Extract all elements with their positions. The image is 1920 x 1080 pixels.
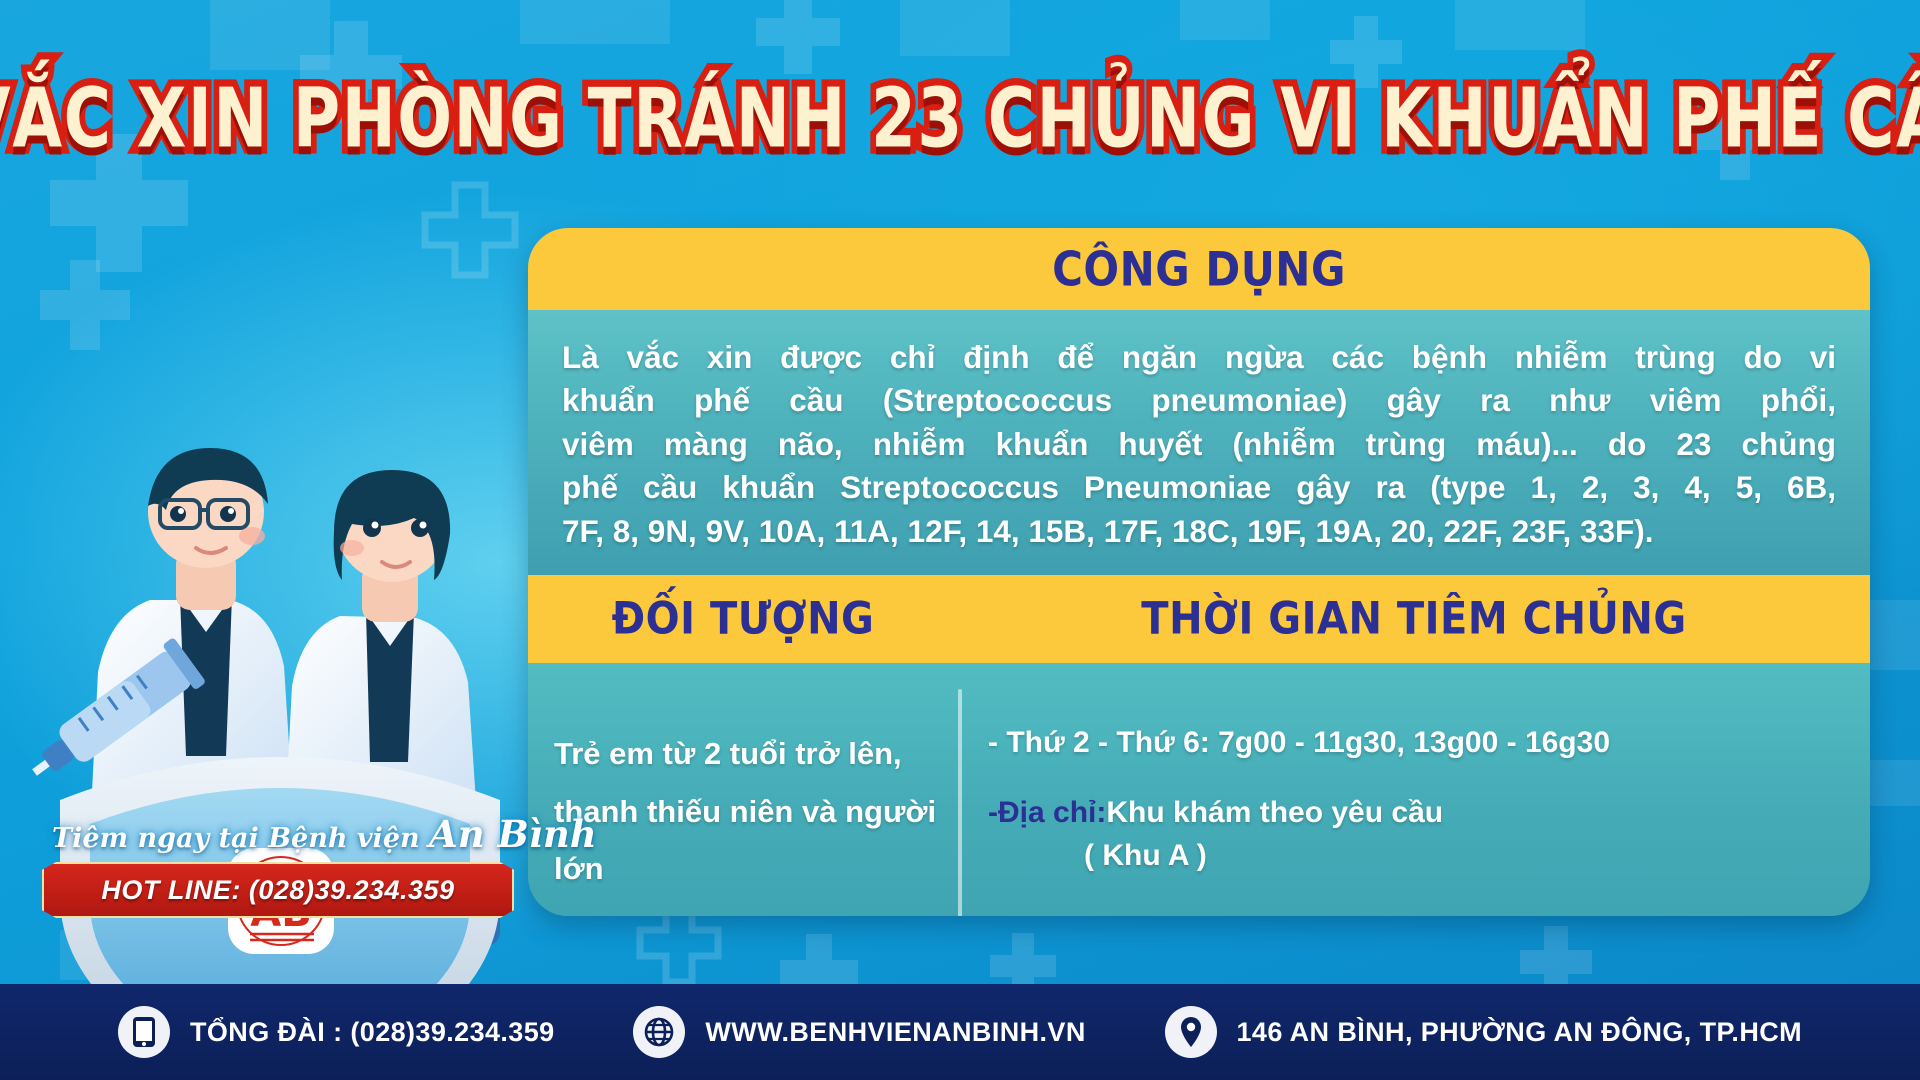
- address-value: Khu khám theo yêu cầu: [1106, 796, 1443, 829]
- schedule-column: - Thứ 2 - Thứ 6: 7g00 - 11g30, 13g00 - 1…: [962, 681, 1870, 916]
- schedule-address-line-2: ( Khu A ): [988, 834, 1850, 878]
- usage-line-3: viêm màng não, nhiễm khuẩn huyết (nhiễm …: [562, 423, 1836, 466]
- tagline-text: Tiêm ngay tại Bệnh viện An Bình: [52, 812, 502, 856]
- poster-title-banner: VẮC XIN PHÒNG TRÁNH 23 CHỦNG VI KHUẨN PH…: [0, 78, 1920, 140]
- footer-hotline-text: TỔNG ĐÀI : (028)39.234.359: [190, 1017, 555, 1048]
- audience-heading-cell: ĐỐI TƯỢNG: [528, 596, 958, 642]
- location-pin-icon: [1165, 1006, 1217, 1058]
- footer-address[interactable]: 146 AN BÌNH, PHƯỜNG AN ĐÔNG, TP.HCM: [1165, 1006, 1803, 1058]
- content-card: CÔNG DỤNG Là vắc xin được chỉ định để ng…: [528, 228, 1870, 916]
- tagline-hospital-name: An Bình: [429, 812, 597, 856]
- audience-heading: ĐỐI TƯỢNG: [612, 594, 875, 646]
- audience-column: Trẻ em từ 2 tuổi trở lên, thanh thiếu ni…: [528, 681, 958, 916]
- usage-line-2: khuẩn phế cầu (Streptococcus pneumoniae)…: [562, 379, 1836, 422]
- schedule-heading: THỜI GIAN TIÊM CHỦNG: [1141, 594, 1686, 646]
- footer-hotline[interactable]: TỔNG ĐÀI : (028)39.234.359: [118, 1006, 555, 1058]
- poster-root: VẮC XIN PHÒNG TRÁNH 23 CHỦNG VI KHUẨN PH…: [0, 0, 1920, 1080]
- schedule-time-line: - Thứ 2 - Thứ 6: 7g00 - 11g30, 13g00 - 1…: [988, 721, 1850, 765]
- columns-heading-band: ĐỐI TƯỢNG THỜI GIAN TIÊM CHỦNG: [528, 575, 1870, 663]
- globe-icon: [633, 1006, 685, 1058]
- schedule-address-line: -Địa chỉ:Khu khám theo yêu cầu: [988, 791, 1850, 835]
- columns-body: Trẻ em từ 2 tuổi trở lên, thanh thiếu ni…: [528, 663, 1870, 916]
- usage-body: Là vắc xin được chỉ định để ngăn ngừa cá…: [528, 310, 1870, 575]
- address-label: -Địa chỉ:: [988, 796, 1106, 829]
- usage-line-4: phế cầu khuẩn Streptococcus Pneumoniae g…: [562, 466, 1836, 509]
- hotline-text: HOT LINE: (028)39.234.359: [101, 875, 454, 906]
- hotline-ribbon[interactable]: HOT LINE: (028)39.234.359: [42, 862, 514, 918]
- audience-line-1: Trẻ em từ 2 tuổi trở lên,: [554, 725, 940, 782]
- usage-line-1: Là vắc xin được chỉ định để ngăn ngừa cá…: [562, 336, 1836, 379]
- footer-bar: TỔNG ĐÀI : (028)39.234.359 WWW.BENHVIENA…: [0, 984, 1920, 1080]
- footer-website-text: WWW.BENHVIENANBINH.VN: [705, 1017, 1085, 1048]
- male-doctor-figure: [92, 448, 292, 792]
- phone-icon: [118, 1006, 170, 1058]
- tagline-prefix: Tiêm ngay tại Bệnh viện: [52, 823, 429, 854]
- schedule-heading-cell: THỜI GIAN TIÊM CHỦNG: [958, 596, 1870, 642]
- footer-address-text: 146 AN BÌNH, PHƯỜNG AN ĐÔNG, TP.HCM: [1237, 1017, 1803, 1048]
- footer-website[interactable]: WWW.BENHVIENANBINH.VN: [633, 1006, 1085, 1058]
- poster-title: VẮC XIN PHÒNG TRÁNH 23 CHỦNG VI KHUẨN PH…: [0, 78, 1920, 160]
- female-doctor-figure: [286, 470, 476, 802]
- usage-heading: CÔNG DỤNG: [1052, 242, 1346, 297]
- audience-line-2: thanh thiếu niên và người lớn: [554, 783, 940, 898]
- usage-line-5: 7F, 8, 9N, 9V, 10A, 11A, 12F, 14, 15B, 1…: [562, 510, 1836, 553]
- usage-heading-band: CÔNG DỤNG: [528, 228, 1870, 310]
